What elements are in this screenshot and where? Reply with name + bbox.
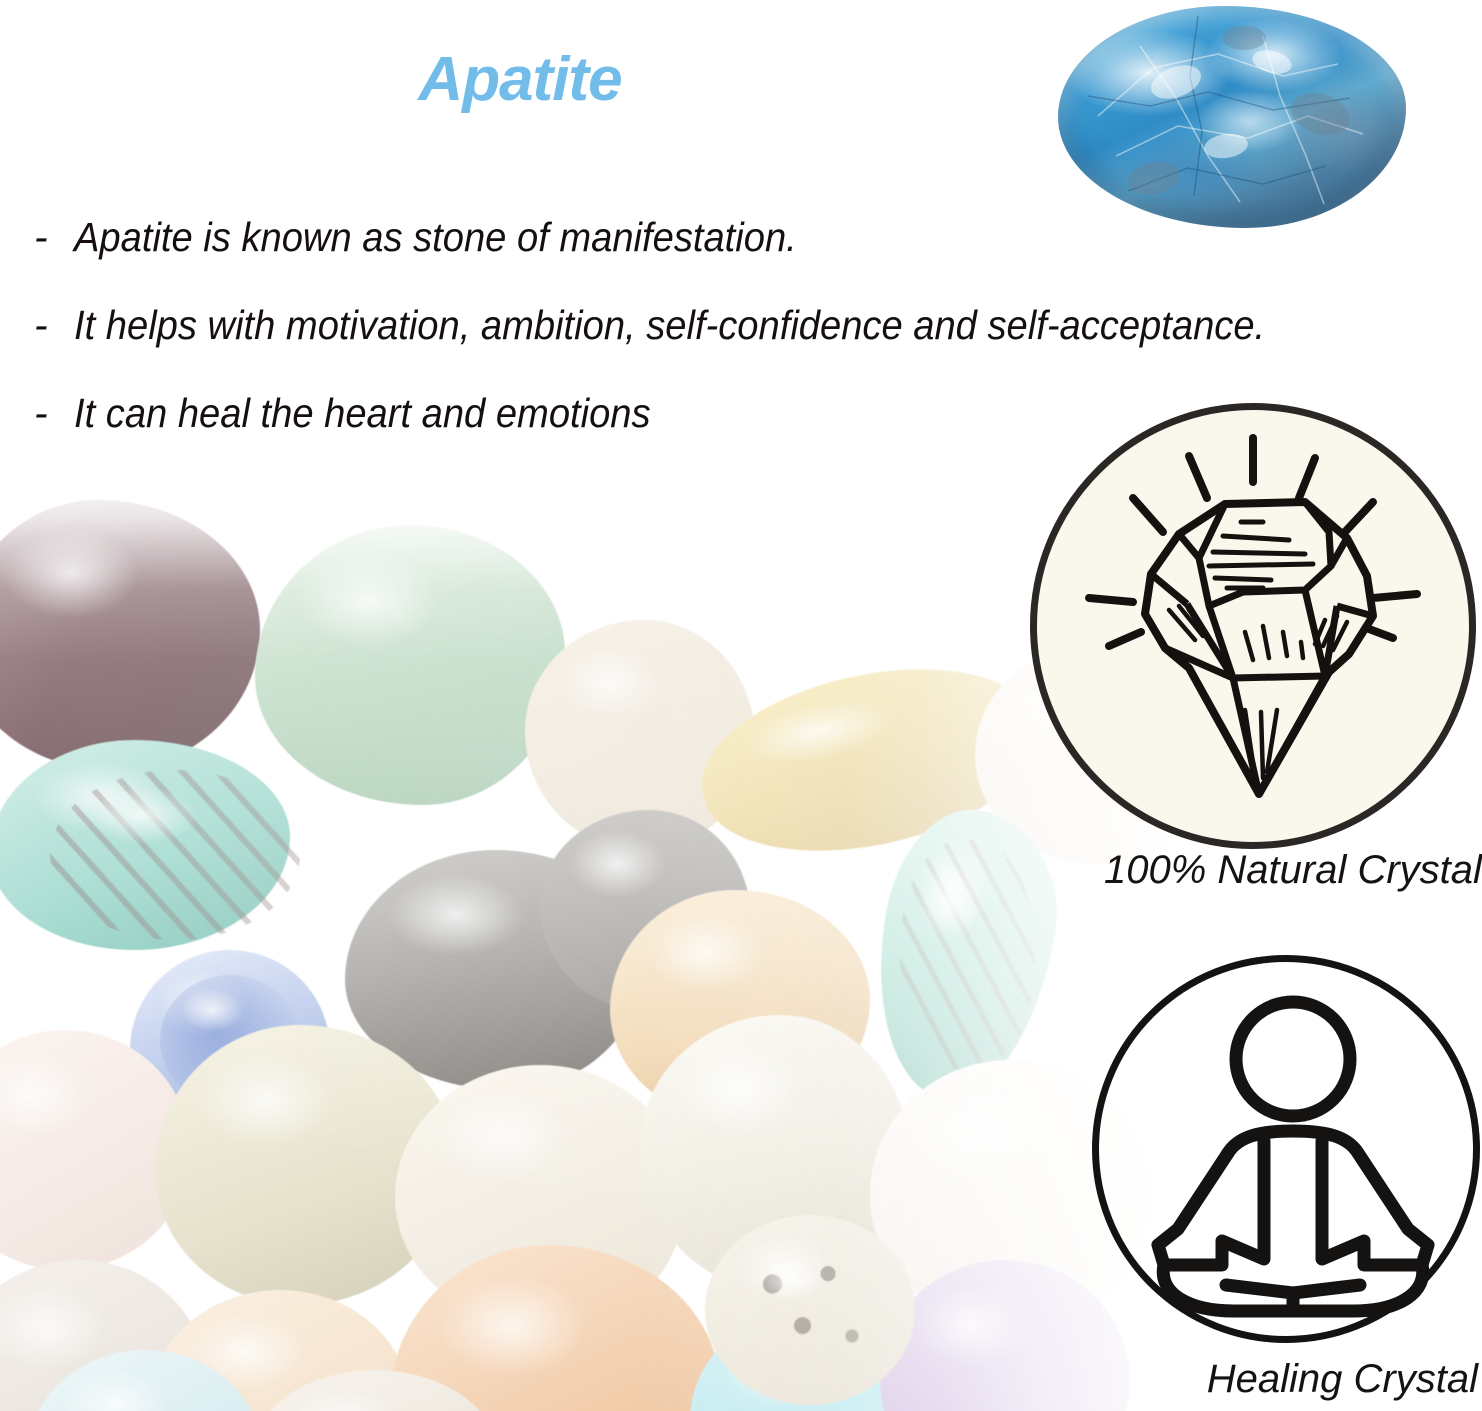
- tumbled-stones-photo: [0, 470, 1200, 1411]
- list-item: - It helps with motivation, ambition, se…: [34, 298, 1374, 386]
- bullet-marker: -: [34, 210, 74, 264]
- healing-crystal-badge: [1092, 955, 1480, 1343]
- apatite-raw-stone-image: [1058, 6, 1406, 228]
- gem-sparkle-icon: [1037, 410, 1469, 842]
- product-infographic: Apatite: [0, 0, 1482, 1411]
- natural-crystal-caption: 100% Natural Crystal: [1104, 848, 1478, 893]
- page-title: Apatite: [0, 44, 1040, 115]
- benefit-text: Apatite is known as stone of manifestati…: [74, 210, 1283, 264]
- meditation-lotus-icon: [1092, 955, 1482, 1357]
- list-item: - Apatite is known as stone of manifesta…: [34, 210, 1374, 298]
- healing-crystal-caption: Healing Crystal: [1110, 1357, 1478, 1402]
- benefit-text: It helps with motivation, ambition, self…: [74, 298, 1283, 352]
- bullet-marker: -: [34, 298, 74, 352]
- bullet-marker: -: [34, 386, 74, 440]
- natural-crystal-badge: [1030, 403, 1476, 849]
